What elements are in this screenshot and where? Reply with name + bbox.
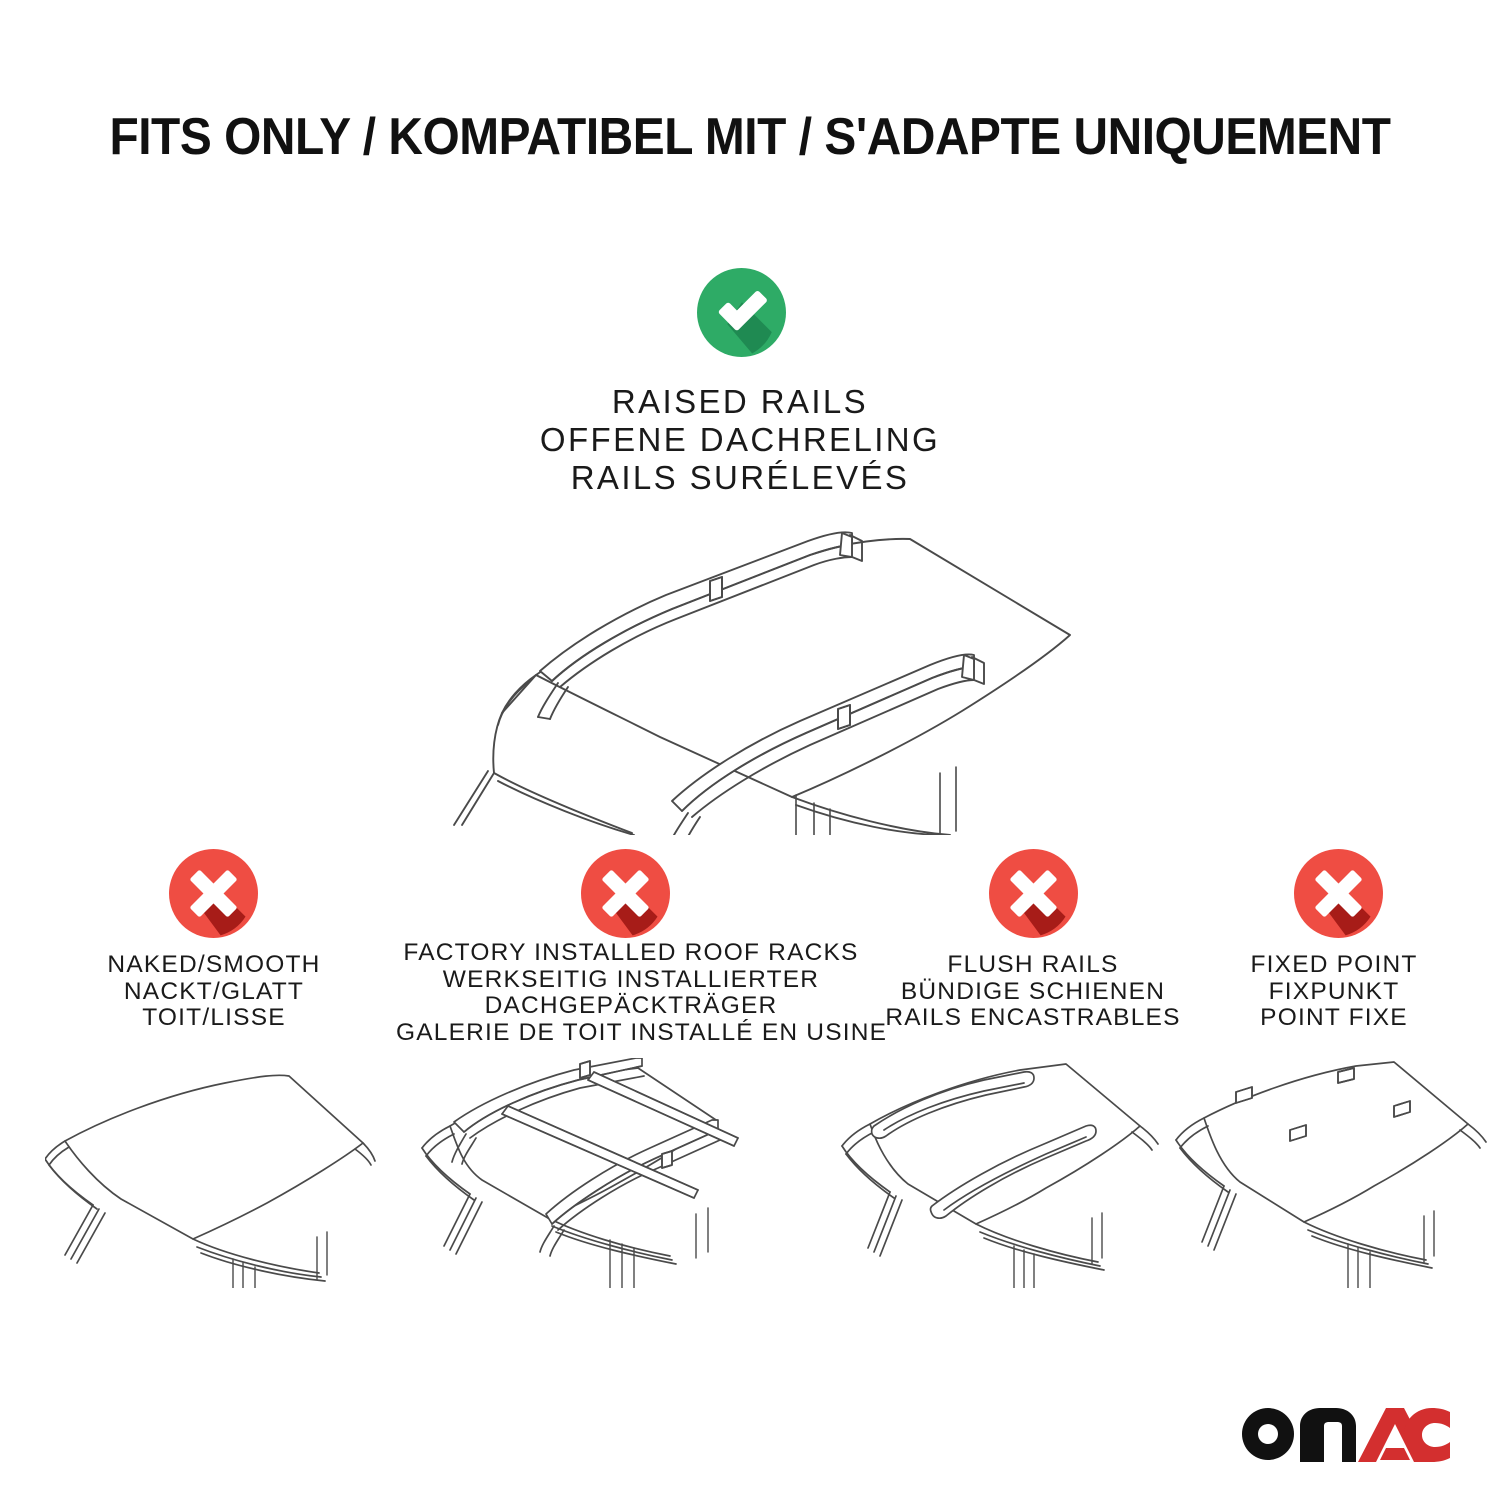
- incompatible-label-flush-rails: FLUSH RAILS BÜNDIGE SCHIENEN RAILS ENCAS…: [853, 952, 1213, 1032]
- compatible-label: RAISED RAILS OFFENE DACHRELING RAILS SUR…: [340, 383, 1140, 497]
- car-roof-flush-rails-illustration: [828, 1058, 1188, 1288]
- incompatible-label-naked-smooth: NAKED/SMOOTH NACKT/GLATT TOIT/LISSE: [34, 952, 394, 1032]
- omac-logo: [1238, 1404, 1450, 1470]
- label-line-en: FIXED POINT: [1164, 952, 1500, 979]
- label-line-en: FLUSH RAILS: [853, 952, 1213, 979]
- fitment-infographic: FITS ONLY / KOMPATIBEL MIT / S'ADAPTE UN…: [0, 0, 1500, 1500]
- page-title: FITS ONLY / KOMPATIBEL MIT / S'ADAPTE UN…: [60, 108, 1440, 166]
- cross-circle-icon: [581, 849, 670, 938]
- label-line-de: BÜNDIGE SCHIENEN: [853, 979, 1213, 1006]
- compatible-label-line-fr: RAILS SURÉLEVÉS: [340, 459, 1140, 497]
- label-line-fr: RAILS ENCASTRABLES: [853, 1005, 1213, 1032]
- car-roof-raised-rails-illustration: [410, 505, 1110, 835]
- compatible-label-line-de: OFFENE DACHRELING: [340, 421, 1140, 459]
- label-line-de: NACKT/GLATT: [34, 979, 394, 1006]
- car-roof-naked-smooth-illustration: [45, 1063, 390, 1288]
- omac-logo-letter-o: [1242, 1408, 1294, 1460]
- label-line-de-1: WERKSEITIG INSTALLIERTER: [396, 967, 866, 994]
- car-roof-fixed-point-illustration: [1168, 1058, 1500, 1288]
- cross-circle-icon: [169, 849, 258, 938]
- car-roof-factory-roof-racks-illustration: [398, 1058, 748, 1288]
- label-line-de: FIXPUNKT: [1164, 979, 1500, 1006]
- label-line-fr: GALERIE DE TOIT INSTALLÉ EN USINE: [396, 1020, 866, 1047]
- omac-logo-letter-m: [1300, 1408, 1356, 1462]
- incompatible-label-factory-roof-racks: FACTORY INSTALLED ROOF RACKS WERKSEITIG …: [396, 940, 866, 1046]
- cross-circle-icon: [989, 849, 1078, 938]
- check-circle-icon: [697, 268, 786, 357]
- label-line-fr: TOIT/LISSE: [34, 1005, 394, 1032]
- incompatible-label-fixed-point: FIXED POINT FIXPUNKT POINT FIXE: [1164, 952, 1500, 1032]
- label-line-fr: POINT FIXE: [1164, 1005, 1500, 1032]
- cross-circle-icon: [1294, 849, 1383, 938]
- compatible-label-line-en: RAISED RAILS: [340, 383, 1140, 421]
- label-line-de-2: DACHGEPÄCKTRÄGER: [396, 993, 866, 1020]
- label-line-en: FACTORY INSTALLED ROOF RACKS: [396, 940, 866, 967]
- label-line-en: NAKED/SMOOTH: [34, 952, 394, 979]
